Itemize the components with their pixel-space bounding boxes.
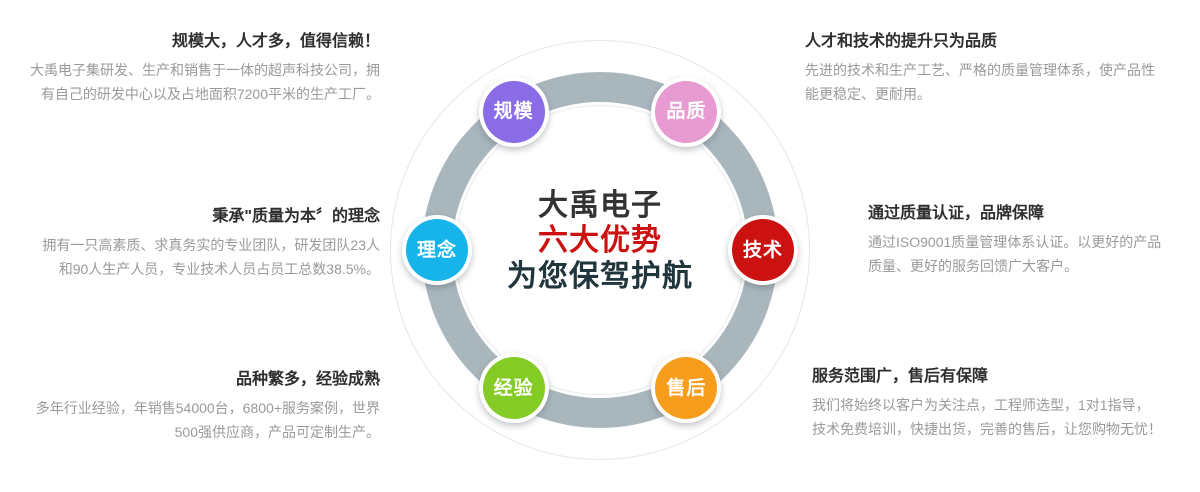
block-body-idea: 拥有一只高素质、求真务实的专业团队，研发团队23人和90人生产人员，专业技术人员…	[30, 233, 380, 281]
text-block-service: 服务范围广，售后有保障 我们将始终以客户为关注点，工程师选型，1对1指导，技术免…	[812, 365, 1162, 441]
badge-label-service: 售后	[655, 357, 717, 419]
text-block-experience: 品种繁多，经验成熟 多年行业经验，年销售54000台，6800+服务案例，世界5…	[30, 368, 380, 444]
infographic-canvas: 规模大，人才多，值得信赖！ 大禹电子集研发、生产和销售于一体的超声科技公司，拥有…	[0, 0, 1200, 492]
block-body-scale: 大禹电子集研发、生产和销售于一体的超声科技公司，拥有自己的研发中心以及占地面积7…	[30, 58, 380, 106]
block-body-experience: 多年行业经验，年销售54000台，6800+服务案例，世界500强供应商，产品可…	[30, 396, 380, 444]
center-headline-line1: 大禹电子	[460, 188, 740, 223]
text-block-quality: 人才和技术的提升只为品质 先进的技术和生产工艺、严格的质量管理体系，使产品性能更…	[805, 30, 1165, 106]
block-title-experience: 品种繁多，经验成熟	[30, 368, 380, 392]
block-title-scale: 规模大，人才多，值得信赖！	[30, 30, 380, 54]
badge-label-quality: 品质	[655, 81, 717, 143]
badge-quality[interactable]: 品质	[651, 77, 721, 147]
block-body-quality: 先进的技术和生产工艺、严格的质量管理体系，使产品性能更稳定、更耐用。	[805, 58, 1165, 106]
text-block-tech: 通过质量认证，品牌保障 通过ISO9001质量管理体系认证。以更好的产品质量、更…	[868, 202, 1168, 278]
badge-label-experience: 经验	[483, 357, 545, 419]
badge-experience[interactable]: 经验	[479, 353, 549, 423]
badge-label-tech: 技术	[732, 219, 794, 281]
center-headline-line2: 六大优势	[460, 223, 740, 258]
center-headline: 大禹电子 六大优势 为您保驾护航	[460, 188, 740, 294]
badge-tech[interactable]: 技术	[728, 215, 798, 285]
block-title-quality: 人才和技术的提升只为品质	[805, 30, 1165, 54]
badge-idea[interactable]: 理念	[402, 215, 472, 285]
block-title-tech: 通过质量认证，品牌保障	[868, 202, 1168, 226]
block-body-service: 我们将始终以客户为关注点，工程师选型，1对1指导，技术免费培训，快捷出货，完善的…	[812, 393, 1162, 441]
badge-label-idea: 理念	[406, 219, 468, 281]
badge-scale[interactable]: 规模	[479, 77, 549, 147]
center-headline-line3: 为您保驾护航	[460, 259, 740, 294]
badge-label-scale: 规模	[483, 81, 545, 143]
block-title-idea: 秉承"质量为本〞的理念	[30, 205, 380, 229]
block-title-service: 服务范围广，售后有保障	[812, 365, 1162, 389]
text-block-scale: 规模大，人才多，值得信赖！ 大禹电子集研发、生产和销售于一体的超声科技公司，拥有…	[30, 30, 380, 106]
block-body-tech: 通过ISO9001质量管理体系认证。以更好的产品质量、更好的服务回馈广大客户。	[868, 230, 1168, 278]
text-block-idea: 秉承"质量为本〞的理念 拥有一只高素质、求真务实的专业团队，研发团队23人和90…	[30, 205, 380, 281]
